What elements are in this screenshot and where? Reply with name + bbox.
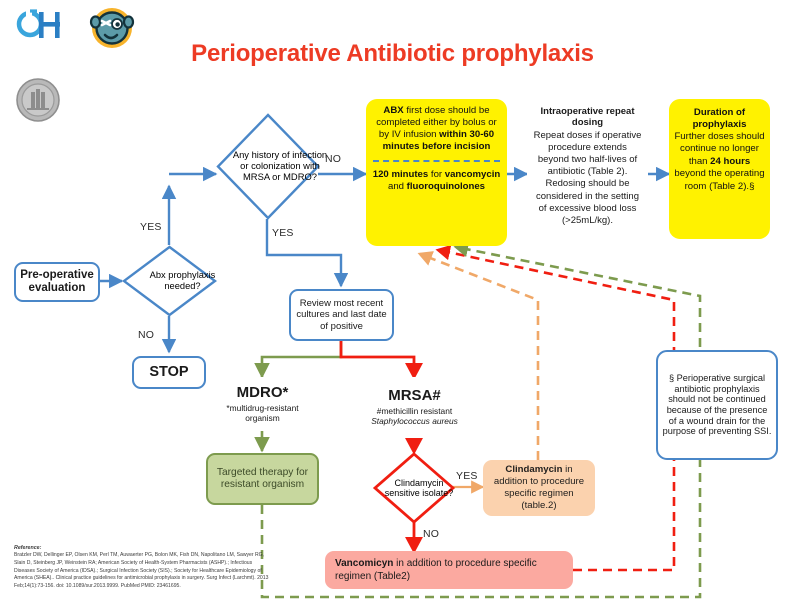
node-vancomycin-regimen[interactable]: Vancomicyn in addition to procedure spec… — [325, 551, 573, 589]
node-mrsa[interactable]: MRSA# #methicillin resistant Staphylococ… — [358, 377, 471, 437]
node-preoperative-evaluation[interactable]: Pre-operative evaluation — [14, 262, 100, 302]
node-duration-of-prophylaxis[interactable]: Duration of prophylaxis Further doses sh… — [669, 99, 770, 239]
edge-label-abx-no: NO — [138, 329, 154, 341]
duration-text-b: beyond the operating room (Table 2).§ — [674, 168, 764, 191]
node-targeted-therapy[interactable]: Targeted therapy for resistant organism — [206, 453, 319, 505]
edge-label-clinda-yes: YES — [456, 470, 478, 482]
edge-label-abx-yes: YES — [140, 221, 162, 233]
node-intraoperative-repeat-dosing[interactable]: Intraoperative repeat dosing Repeat dose… — [527, 99, 648, 249]
node-mrsa-subtitle-a: #methicillin resistant — [377, 406, 452, 416]
clindamycin-bold: Clindamycin — [505, 464, 562, 475]
node-mdro-title: MDRO* — [237, 385, 289, 402]
decision-abx-prophylaxis-needed[interactable]: Abx prophylaxis needed? — [122, 245, 217, 317]
node-targeted-therapy-label: Targeted therapy for resistant organism — [208, 467, 317, 491]
abx-divider — [373, 160, 500, 162]
references-heading: Reference: — [14, 544, 274, 552]
node-mdro[interactable]: MDRO* *multidrug-resistant organism — [206, 377, 319, 431]
node-stop[interactable]: STOP — [132, 356, 206, 389]
node-mrsa-title: MRSA# — [388, 388, 441, 405]
vancomycin-bold: Vancomicyn — [335, 558, 393, 569]
duration-heading: Duration of prophylaxis — [674, 107, 765, 130]
node-clindamycin-regimen[interactable]: Clindamycin in addition to procedure spe… — [483, 460, 595, 516]
node-footnote-ssi-text: § Perioperative surgical antibiotic prop… — [658, 373, 776, 437]
node-mrsa-subtitle-italic: Staphylococcus aureus — [371, 416, 458, 426]
node-abx-first-dose[interactable]: ABX first dose should be completed eithe… — [366, 99, 507, 246]
node-mdro-subtitle: *multidrug-resistant organism — [210, 403, 315, 423]
flowchart-page: Perioperative Antibiotic prophylaxis — [0, 0, 785, 614]
node-stop-label: STOP — [134, 364, 204, 381]
abx-bold-abx: ABX — [383, 105, 403, 116]
abx-bold-fq: fluoroquinolones — [407, 181, 485, 192]
abx-text-2: for — [428, 169, 445, 180]
edge-label-clinda-no: NO — [423, 528, 439, 540]
decision-mrsa-mdro-history[interactable]: Any history of infection or colonization… — [216, 113, 320, 220]
node-review-cultures-label: Review most recent cultures and last dat… — [291, 298, 392, 331]
node-review-cultures[interactable]: Review most recent cultures and last dat… — [289, 289, 394, 341]
node-footnote-ssi: § Perioperative surgical antibiotic prop… — [656, 350, 778, 460]
abx-bold-vanco: vancomycin — [445, 169, 500, 180]
node-preoperative-evaluation-label: Pre-operative evaluation — [16, 269, 98, 296]
decision-clindamycin-sensitive[interactable]: Clindamycin sensitive isolate? — [372, 452, 456, 524]
repeat-dosing-body: Repeat doses if operative procedure exte… — [533, 130, 642, 227]
references-body: Bratzler DW, Dellinger EP, Olsen KM, Per… — [14, 552, 274, 591]
abx-text-3: and — [388, 181, 407, 192]
edge-label-history-no: NO — [325, 153, 341, 165]
edge-label-history-yes: YES — [272, 227, 294, 239]
duration-bold-24h: 24 hours — [710, 156, 750, 167]
references-block: Reference: Bratzler DW, Dellinger EP, Ol… — [14, 544, 274, 591]
repeat-dosing-heading: Intraoperative repeat dosing — [533, 106, 642, 129]
abx-bold-120: 120 minutes — [373, 169, 428, 180]
